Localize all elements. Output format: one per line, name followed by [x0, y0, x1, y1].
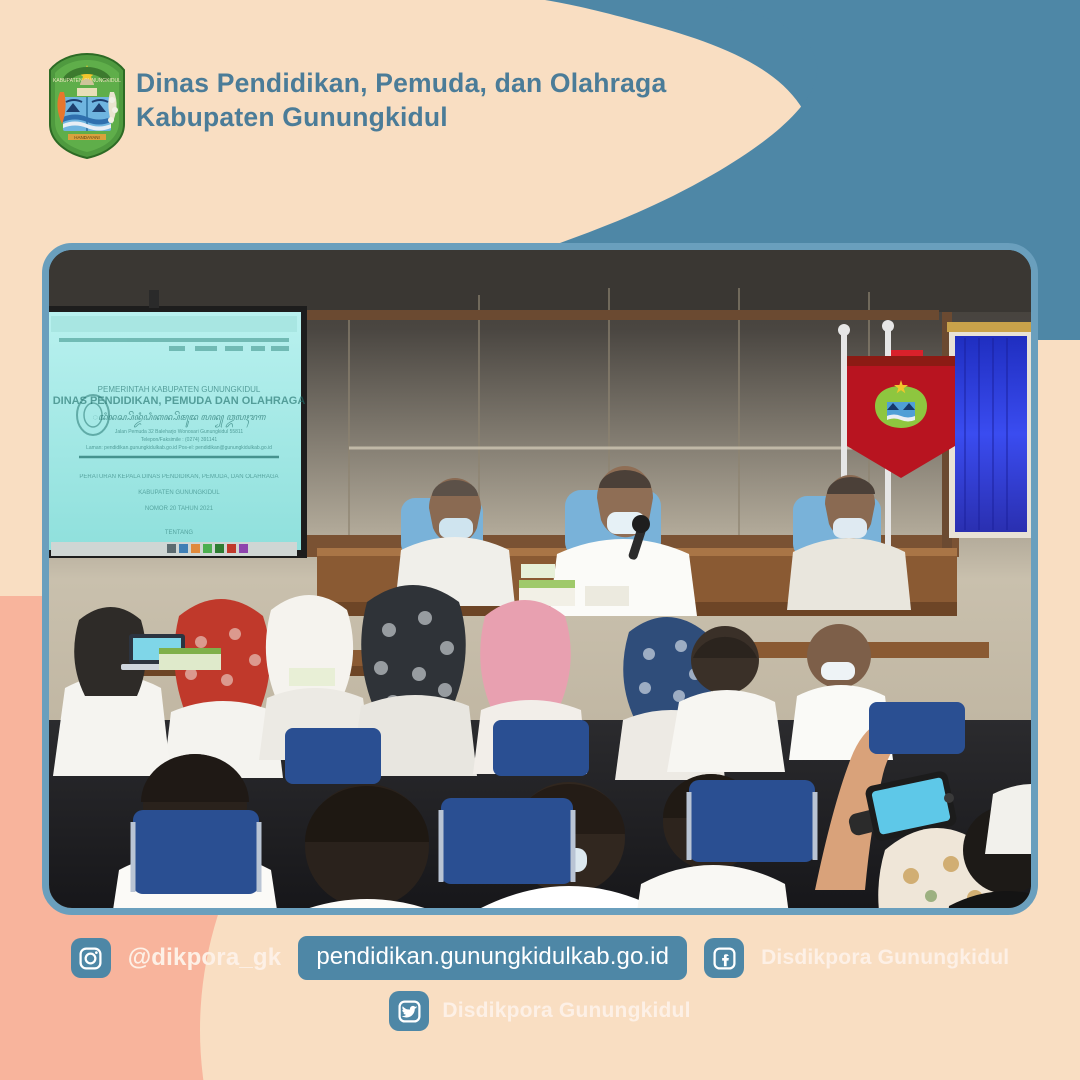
- svg-text:PERATURAN KEPALA DINAS PENDIDI: PERATURAN KEPALA DINAS PENDIDIKAN, PEMUD…: [79, 474, 278, 480]
- facebook-icon[interactable]: [704, 938, 744, 978]
- svg-text:PEMERINTAH KABUPATEN GUNUNGKID: PEMERINTAH KABUPATEN GUNUNGKIDUL: [98, 385, 261, 394]
- svg-text:NOMOR 20 TAHUN 2021: NOMOR 20 TAHUN 2021: [145, 506, 214, 512]
- svg-text:Jalan Pemuda 32 Baleharjo Wono: Jalan Pemuda 32 Baleharjo Wonosari Gunun…: [115, 429, 243, 435]
- photo-illustration: PEMERINTAH KABUPATEN GUNUNGKIDUL DINAS P…: [49, 250, 1031, 908]
- social-row-primary: @dikpora_gk pendidikan.gunungkidulkab.go…: [0, 935, 1080, 981]
- meeting-hall-photo: PEMERINTAH KABUPATEN GUNUNGKIDUL DINAS P…: [42, 243, 1038, 915]
- instagram-icon[interactable]: [71, 938, 111, 978]
- svg-text:Telepon/Faksimile : (0274) 391: Telepon/Faksimile : (0274) 391141: [141, 437, 218, 443]
- social-media-poster: KABUPATEN GUNUNGKIDUL HANDAYANI Dinas Pe…: [0, 0, 1080, 1080]
- photo-inner: PEMERINTAH KABUPATEN GUNUNGKIDUL DINAS P…: [49, 250, 1031, 908]
- svg-text:DINAS PENDIDIKAN, PEMUDA DAN O: DINAS PENDIDIKAN, PEMUDA DAN OLAHRAGA: [53, 395, 306, 407]
- svg-text:KABUPATEN GUNUNGKIDUL: KABUPATEN GUNUNGKIDUL: [138, 490, 220, 496]
- social-footer: @dikpora_gk pendidikan.gunungkidulkab.go…: [0, 930, 1080, 1080]
- website-url-pill[interactable]: pendidikan.gunungkidulkab.go.id: [298, 936, 687, 980]
- svg-text:Laman: pendidikan.gunungkidulk: Laman: pendidikan.gunungkidulkab.go.id P…: [86, 445, 272, 451]
- twitter-handle[interactable]: Disdikpora Gunungkidul: [442, 999, 690, 1023]
- blue-curve-shape-outer: [0, 0, 1080, 340]
- instagram-handle[interactable]: @dikpora_gk: [128, 944, 282, 972]
- twitter-icon[interactable]: [389, 991, 429, 1031]
- social-row-secondary: Disdikpora Gunungkidul: [0, 988, 1080, 1034]
- svg-text:TENTANG: TENTANG: [165, 530, 194, 536]
- facebook-page-name[interactable]: Disdikpora Gunungkidul: [761, 946, 1009, 970]
